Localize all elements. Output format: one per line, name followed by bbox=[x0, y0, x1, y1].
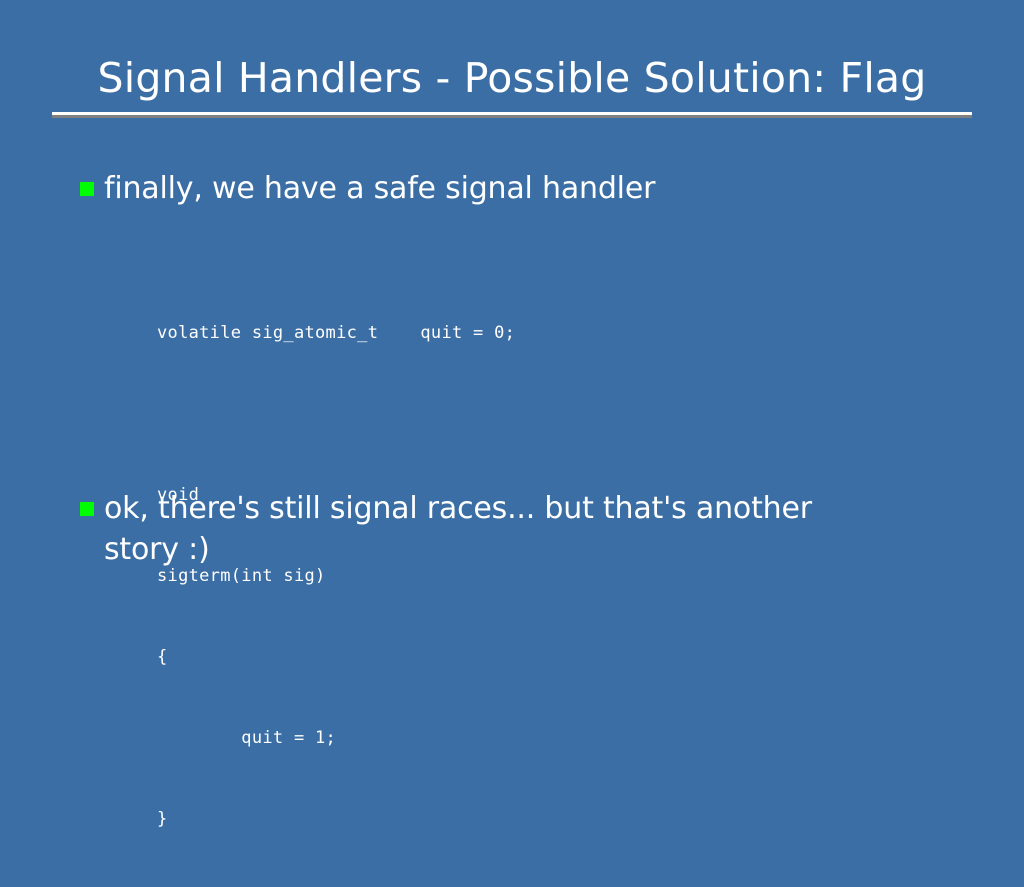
title-rule-shadow bbox=[52, 115, 972, 118]
code-line bbox=[157, 401, 515, 428]
bullet-item-2-wrapper: ok, there's still signal races... but th… bbox=[0, 488, 1024, 570]
code-line: volatile sig_atomic_t quit = 0; bbox=[157, 320, 515, 347]
slide-canvas: Signal Handlers - Possible Solution: Fla… bbox=[0, 0, 1024, 768]
title-underline-rule bbox=[52, 112, 972, 118]
code-snippet: volatile sig_atomic_t quit = 0; void sig… bbox=[157, 266, 515, 887]
code-line: quit = 1; bbox=[157, 725, 515, 752]
page-title: Signal Handlers - Possible Solution: Fla… bbox=[52, 52, 972, 104]
slide-body: finally, we have a safe signal handler bbox=[0, 168, 1024, 209]
title-block: Signal Handlers - Possible Solution: Fla… bbox=[52, 52, 972, 118]
square-bullet-icon bbox=[80, 502, 94, 516]
bullet-item-2-label: ok, there's still signal races... but th… bbox=[104, 488, 864, 570]
bullet-item-1: finally, we have a safe signal handler bbox=[0, 168, 1024, 209]
bullet-item-1-label: finally, we have a safe signal handler bbox=[104, 168, 954, 209]
square-bullet-icon bbox=[80, 182, 94, 196]
code-line: { bbox=[157, 644, 515, 671]
code-line: } bbox=[157, 806, 515, 833]
bullet-item-2: ok, there's still signal races... but th… bbox=[0, 488, 1024, 570]
